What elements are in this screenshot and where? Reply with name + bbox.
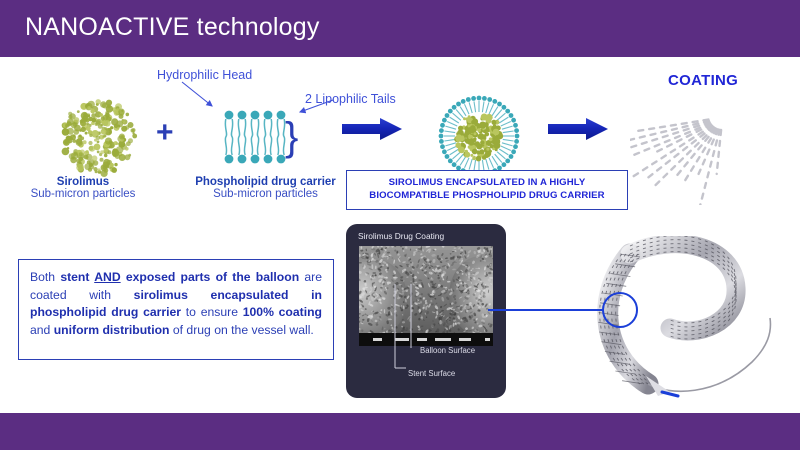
stent-catheter-device-image bbox=[566, 236, 800, 406]
slide-footer: 2023 euro PCR EuroPCR.com PCR EAPCI Euro… bbox=[0, 413, 800, 450]
caption-sirolimus-title: Sirolimus bbox=[18, 176, 148, 188]
curly-brace-icon: } bbox=[285, 108, 298, 166]
caption-phospholipid-subtitle: Sub-micron particles bbox=[178, 188, 353, 200]
callout-box-encapsulation: SIROLIMUS ENCAPSULATED IN A HIGHLY BIOCO… bbox=[346, 170, 628, 210]
phospholipid-bilayer-icon bbox=[222, 108, 288, 166]
label-coating: COATING bbox=[668, 72, 738, 89]
sem-panel-title: Sirolimus Drug Coating bbox=[358, 231, 444, 241]
plus-symbol: + bbox=[156, 118, 174, 148]
caption-sirolimus-subtitle: Sub-micron particles bbox=[18, 188, 148, 200]
micelle-nanoparticle-icon bbox=[438, 95, 520, 177]
device-callout-connector bbox=[488, 309, 604, 311]
caption-phospholipid-title: Phospholipid drug carrier bbox=[178, 176, 353, 188]
slide-canvas: NANOACTIVE technology Hydrophilic Head 2… bbox=[0, 0, 800, 450]
slide-header: NANOACTIVE technology bbox=[0, 0, 800, 57]
right-arrow-icon-1 bbox=[342, 118, 402, 140]
main-description-box: Both stent AND exposed parts of the ball… bbox=[18, 259, 334, 360]
caption-sirolimus: Sirolimus Sub-micron particles bbox=[18, 176, 148, 200]
caption-phospholipid: Phospholipid drug carrier Sub-micron par… bbox=[178, 176, 353, 200]
sirolimus-particle-sphere-icon bbox=[58, 97, 138, 177]
sem-label-stent-surface: Stent Surface bbox=[408, 369, 455, 378]
device-callout-circle bbox=[602, 292, 638, 328]
sem-leader-lines bbox=[386, 284, 436, 376]
callout-line-1: SIROLIMUS ENCAPSULATED IN A HIGHLY bbox=[389, 177, 586, 190]
coating-spray-icon bbox=[630, 100, 800, 205]
main-description-text: Both stent AND exposed parts of the ball… bbox=[30, 269, 322, 339]
right-arrow-icon-2 bbox=[548, 118, 608, 140]
sem-image-panel: Sirolimus Drug Coating bbox=[346, 224, 506, 398]
sem-label-balloon-surface: Balloon Surface bbox=[420, 346, 475, 355]
callout-line-2: BIOCOMPATIBLE PHOSPHOLIPID DRUG CARRIER bbox=[369, 190, 604, 203]
page-title: NANOACTIVE technology bbox=[25, 13, 320, 42]
